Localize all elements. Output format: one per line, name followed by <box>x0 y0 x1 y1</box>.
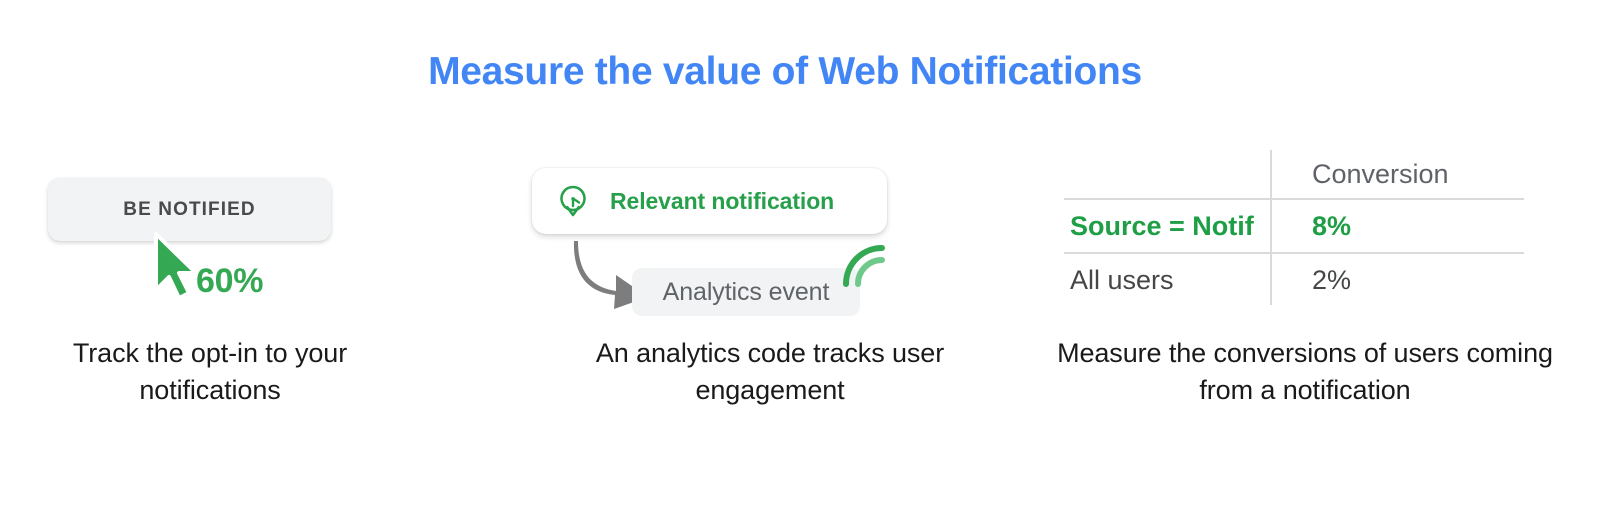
table-cell-all-users-label: All users <box>1064 253 1282 306</box>
clock-pin-icon <box>556 184 590 218</box>
opt-in-rate: 60% <box>196 262 263 301</box>
panel-caption-analytics: An analytics code tracks user engagement <box>530 335 1010 409</box>
table-header-row: Conversion <box>1064 150 1524 199</box>
table-cell-all-users-value: 2% <box>1282 253 1524 306</box>
table-row[interactable]: All users 2% <box>1064 253 1524 306</box>
table-cell-source-notif-label: Source = Notif <box>1064 199 1282 253</box>
conversion-table: Conversion Source = Notif 8% All users 2… <box>1064 150 1524 306</box>
page-title: Measure the value of Web Notifications <box>0 50 1570 94</box>
table-row[interactable]: Source = Notif 8% <box>1064 199 1524 253</box>
table-column-divider <box>1270 150 1272 305</box>
analytics-visual: Relevant notification Analytics event <box>520 140 1040 335</box>
table-header-blank <box>1064 150 1282 199</box>
panel-caption-conversions: Measure the conversions of users coming … <box>1040 335 1570 409</box>
table-header-conversion: Conversion <box>1282 150 1524 199</box>
panel-conversions: Conversion Source = Notif 8% All users 2… <box>1040 140 1570 409</box>
opt-in-visual: BE NOTIFIED 60% <box>0 140 520 335</box>
panel-analytics: Relevant notification Analytics event An… <box>520 140 1040 409</box>
relevant-notification-card[interactable]: Relevant notification <box>532 168 887 234</box>
panel-caption-opt-in: Track the opt-in to your notifications <box>0 335 420 409</box>
table-cell-source-notif-value: 8% <box>1282 199 1524 253</box>
analytics-event-chip[interactable]: Analytics event <box>632 268 860 316</box>
conversions-visual: Conversion Source = Notif 8% All users 2… <box>1040 140 1570 335</box>
panel-opt-in: BE NOTIFIED 60% Track the opt-in to your… <box>0 140 520 409</box>
panels-row: BE NOTIFIED 60% Track the opt-in to your… <box>0 140 1570 409</box>
relevant-notification-label: Relevant notification <box>610 188 834 215</box>
signal-waves-icon <box>838 240 886 288</box>
